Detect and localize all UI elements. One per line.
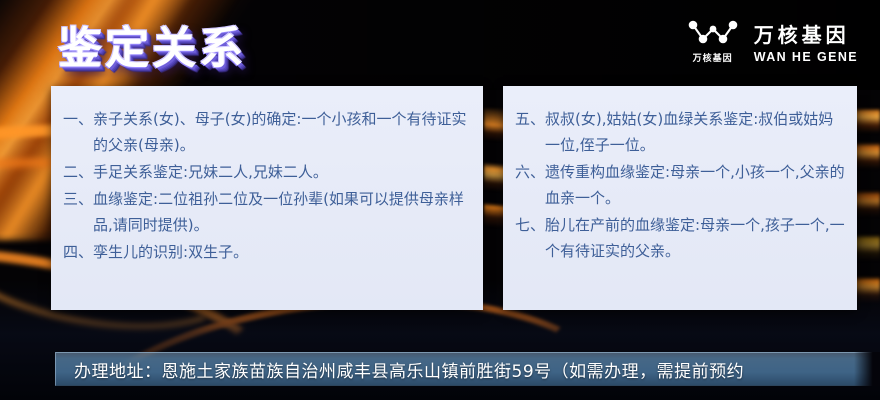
list-item: 七、 胎儿在产前的血缘鉴定:母亲一个,孩子一个,一个有待证实的父亲。 <box>515 212 845 264</box>
molecule-nodes-icon <box>686 18 740 48</box>
list-item-text: 血缘鉴定:二位祖孙二位及一位孙辈(如果可以提供母亲样品,请同时提供)。 <box>93 186 471 238</box>
list-item: 一、 亲子关系(女)、母子(女)的确定:一个小孩和一个有待证实的父亲(母亲)。 <box>63 106 471 158</box>
address-ticker-text: 办理地址：恩施土家族苗族自治州咸丰县高乐山镇前胜街59号（如需办理，需提前预约 <box>56 357 744 382</box>
logo-name-en: WAN HE GENE <box>754 50 858 64</box>
list-item-number: 六、 <box>515 159 545 211</box>
list-item-text: 胎儿在产前的血缘鉴定:母亲一个,孩子一个,一个有待证实的父亲。 <box>545 212 845 264</box>
brand-logo: 万核基因 万核基因 WAN HE GENE <box>686 18 858 64</box>
address-ticker-bar: 办理地址：恩施土家族苗族自治州咸丰县高乐山镇前胜街59号（如需办理，需提前预约 <box>55 352 880 386</box>
list-item: 六、 遗传重构血缘鉴定:母亲一个,小孩一个,父亲的血亲一个。 <box>515 159 845 211</box>
list-item-text: 亲子关系(女)、母子(女)的确定:一个小孩和一个有待证实的父亲(母亲)。 <box>93 106 471 158</box>
list-item-text: 手足关系鉴定:兄妹二人,兄妹二人。 <box>93 159 471 185</box>
list-item-number: 七、 <box>515 212 545 264</box>
list-item: 二、 手足关系鉴定:兄妹二人,兄妹二人。 <box>63 159 471 185</box>
list-item-text: 遗传重构血缘鉴定:母亲一个,小孩一个,父亲的血亲一个。 <box>545 159 845 211</box>
list-item: 五、 叔叔(女),姑姑(女)血绿关系鉴定:叔伯或姑妈一位,侄子一位。 <box>515 106 845 158</box>
list-item-number: 三、 <box>63 186 93 238</box>
slide-canvas: 鉴定关系 <box>0 0 880 400</box>
list-item-number: 四、 <box>63 239 93 265</box>
list-item-text: 孪生儿的识别:双生子。 <box>93 239 471 265</box>
list-item-number: 二、 <box>63 159 93 185</box>
logo-mark: 万核基因 <box>686 18 740 64</box>
list-item: 三、 血缘鉴定:二位祖孙二位及一位孙辈(如果可以提供母亲样品,请同时提供)。 <box>63 186 471 238</box>
list-item-number: 五、 <box>515 106 545 158</box>
logo-mark-caption: 万核基因 <box>693 51 733 64</box>
list-item-number: 一、 <box>63 106 93 158</box>
list-item-text: 叔叔(女),姑姑(女)血绿关系鉴定:叔伯或姑妈一位,侄子一位。 <box>545 106 845 158</box>
logo-name-cn: 万核基因 <box>754 19 858 48</box>
list-item: 四、 孪生儿的识别:双生子。 <box>63 239 471 265</box>
content-panel-right: 五、 叔叔(女),姑姑(女)血绿关系鉴定:叔伯或姑妈一位,侄子一位。 六、 遗传… <box>503 86 857 310</box>
page-title: 鉴定关系 <box>58 12 246 76</box>
content-panel-left: 一、 亲子关系(女)、母子(女)的确定:一个小孩和一个有待证实的父亲(母亲)。 … <box>51 86 483 310</box>
logo-wordmark: 万核基因 WAN HE GENE <box>754 19 858 64</box>
